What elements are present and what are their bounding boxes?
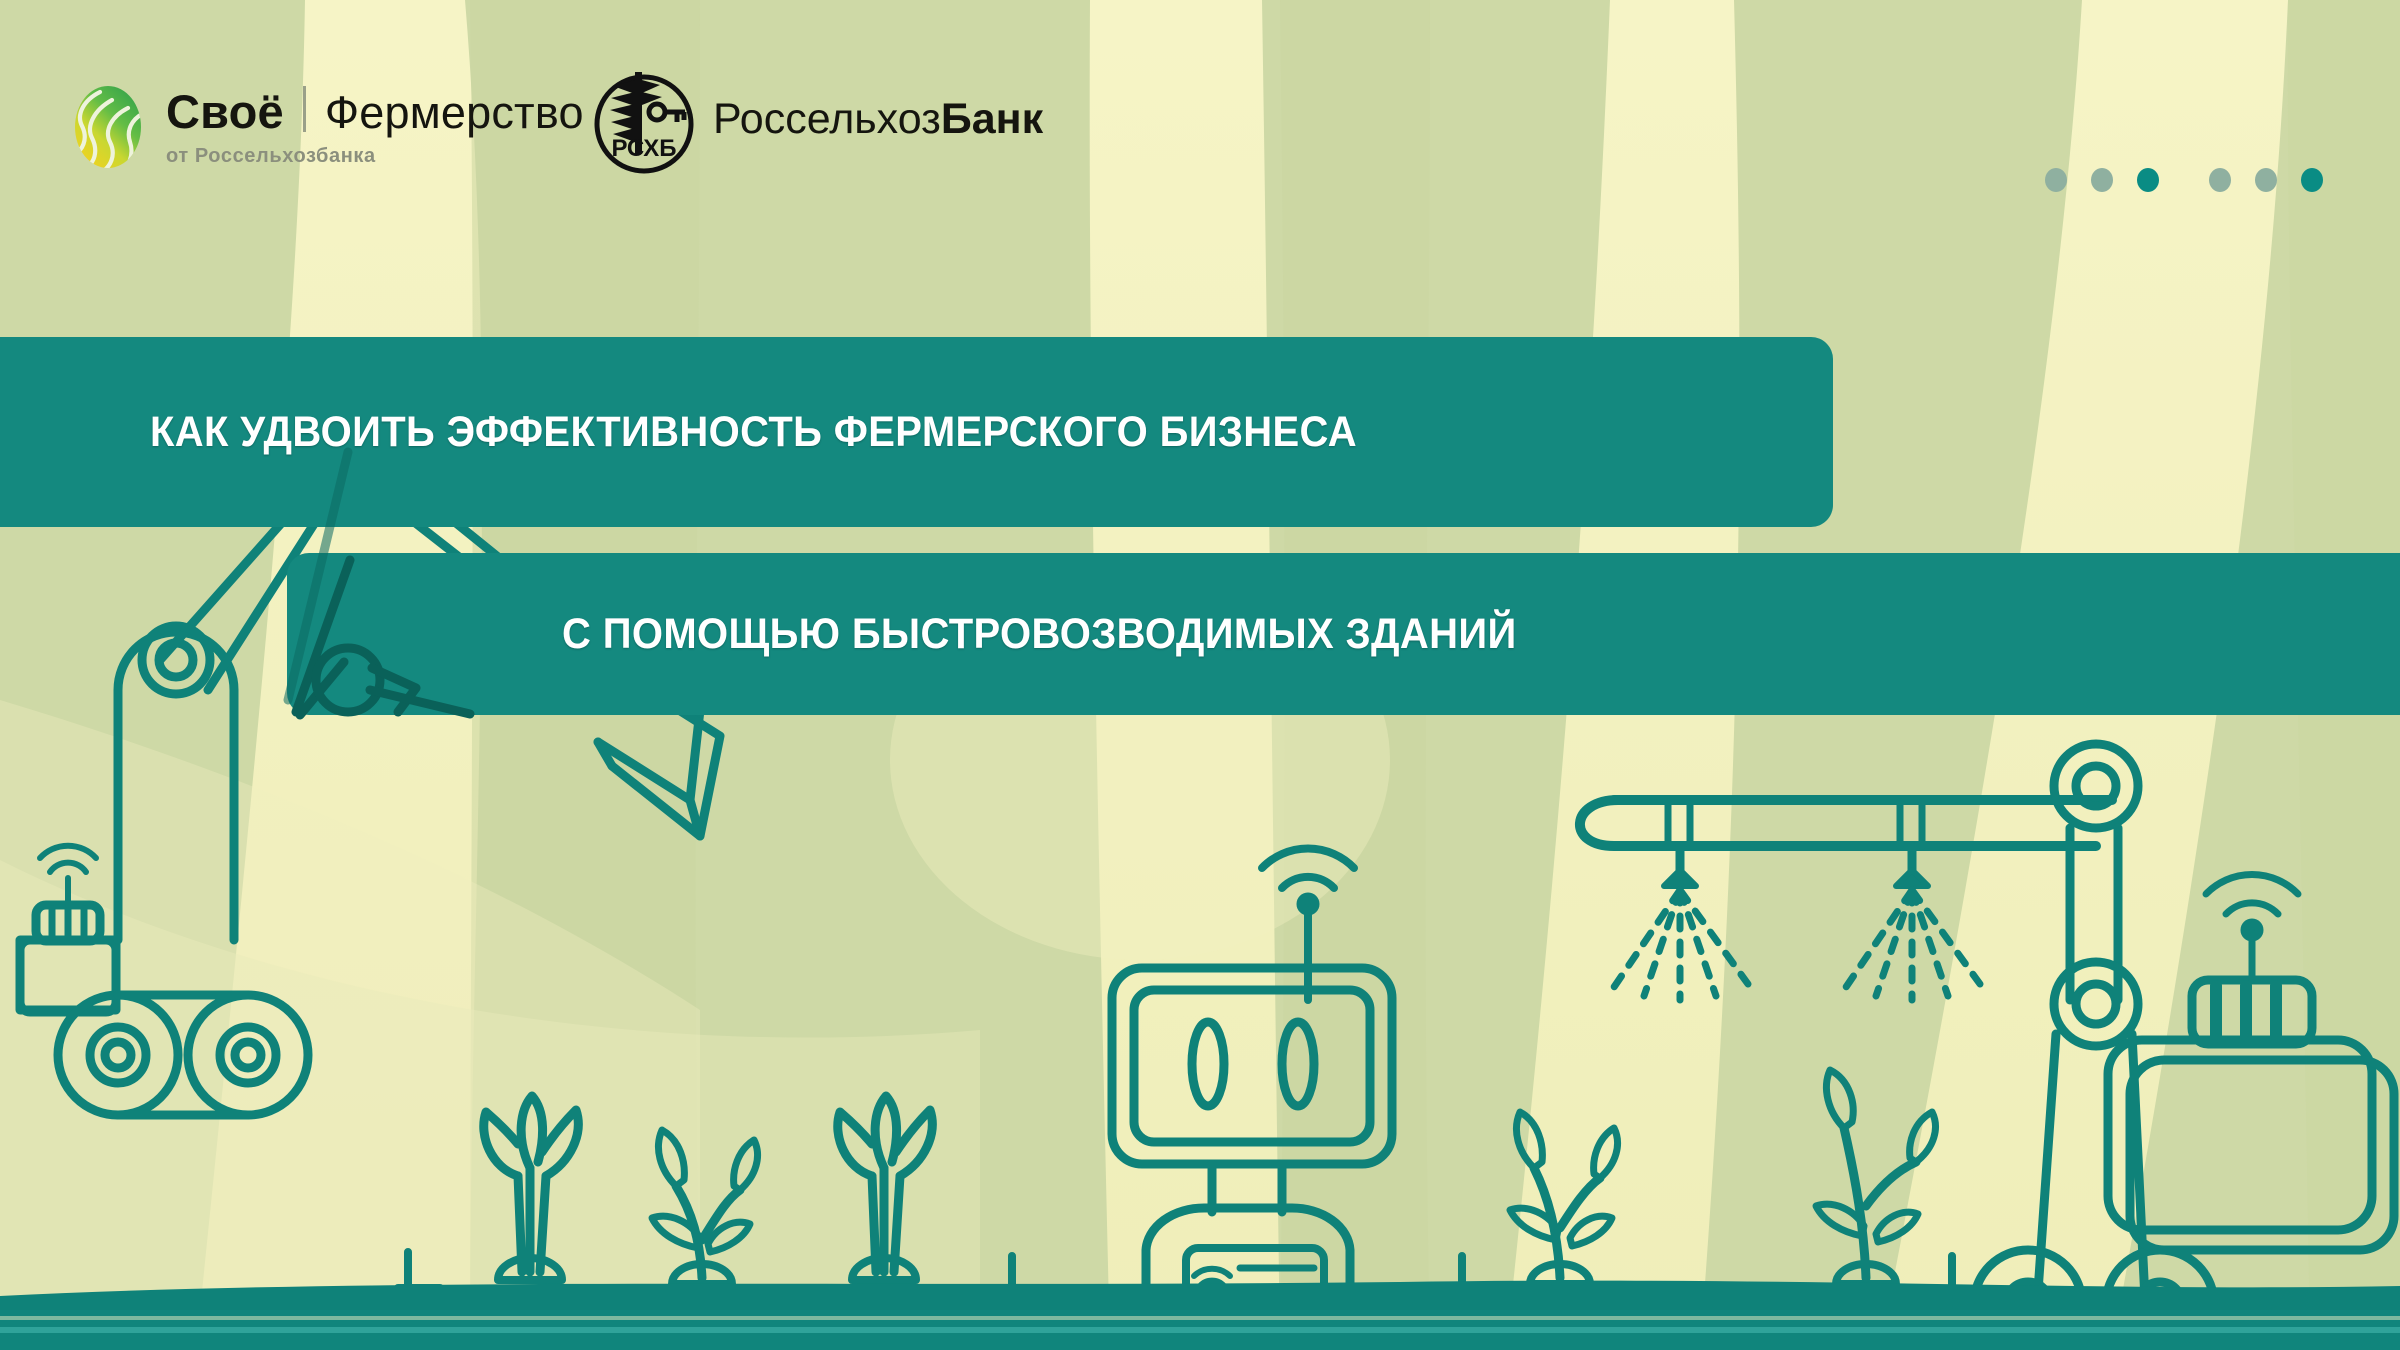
sprinkler-spray-dashes — [1612, 890, 1980, 1000]
title-banner-primary: КАК УДВОИТЬ ЭФФЕКТИВНОСТЬ ФЕРМЕРСКОГО БИ… — [0, 337, 1833, 527]
title-banner-secondary: С ПОМОЩЬЮ БЫСТРОВОЗВОДИМЫХ ЗДАНИЙ — [287, 553, 2400, 715]
slide-canvas: Своё Фермерство от Россельхозбанка — [0, 0, 2400, 1350]
sprout-plant-center — [1510, 1112, 1618, 1284]
sprout-plant-right — [1816, 1070, 1935, 1284]
left-sensor-box-with-wifi — [20, 846, 116, 1012]
sprout-plant-left — [652, 1130, 758, 1284]
ground-line — [0, 1281, 2400, 1350]
lettuce-plant-left-2 — [838, 1096, 933, 1280]
title-line-2: С ПОМОЩЬЮ БЫСТРОВОЗВОДИМЫХ ЗДАНИЙ — [562, 610, 1517, 659]
right-sensor-box-with-wifi — [2108, 874, 2394, 1250]
lettuce-plant-left — [484, 1096, 579, 1280]
irrigation-boom-with-sprinklers — [1580, 800, 2112, 886]
right-irrigation-tower — [1974, 744, 2214, 1350]
smart-robot — [1112, 848, 1392, 1310]
title-line-1: КАК УДВОИТЬ ЭФФЕКТИВНОСТЬ ФЕРМЕРСКОГО БИ… — [150, 408, 1357, 457]
